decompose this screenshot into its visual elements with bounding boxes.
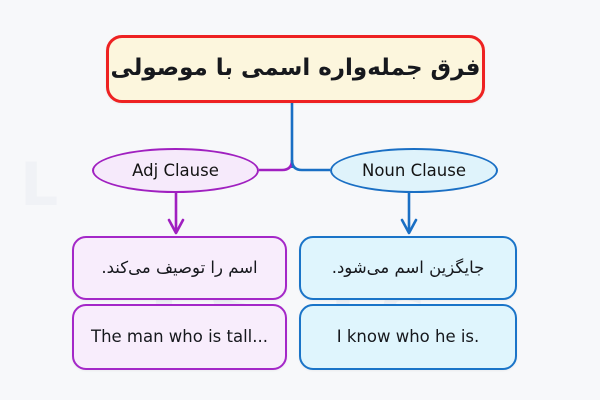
leaf-adj-clause-definition[interactable]: اسم را توصیف می‌کند. [72, 236, 287, 300]
connector-to-noun-clause [292, 160, 330, 170]
leaf-adj-clause-example-text: The man who is tall... [91, 327, 268, 348]
node-adj-clause-label: Adj Clause [132, 161, 219, 180]
leaf-noun-clause-example[interactable]: I know who he is. [299, 304, 517, 370]
leaf-adj-clause-definition-text: اسم را توصیف می‌کند. [101, 258, 257, 279]
node-noun-clause[interactable]: Noun Clause [330, 148, 498, 193]
connector-to-adj-clause [259, 160, 292, 170]
arrowhead-icon [169, 220, 183, 233]
node-adj-clause[interactable]: Adj Clause [92, 148, 259, 193]
leaf-adj-clause-example[interactable]: The man who is tall... [72, 304, 287, 370]
diagram-title-node[interactable]: فرق جمله‌واره اسمی با موصولی [106, 35, 485, 103]
leaf-noun-clause-definition-text: جایگزین اسم می‌شود. [332, 258, 485, 279]
leaf-noun-clause-example-text: I know who he is. [337, 327, 480, 348]
watermark-text: L [20, 150, 62, 220]
arrowhead-icon [402, 220, 416, 233]
diagram-canvas: L LS LS فرق جمله‌واره اسمی با موصولی Adj… [0, 0, 600, 400]
page-title: فرق جمله‌واره اسمی با موصولی [111, 55, 481, 83]
node-noun-clause-label: Noun Clause [362, 161, 466, 180]
leaf-noun-clause-definition[interactable]: جایگزین اسم می‌شود. [299, 236, 517, 300]
